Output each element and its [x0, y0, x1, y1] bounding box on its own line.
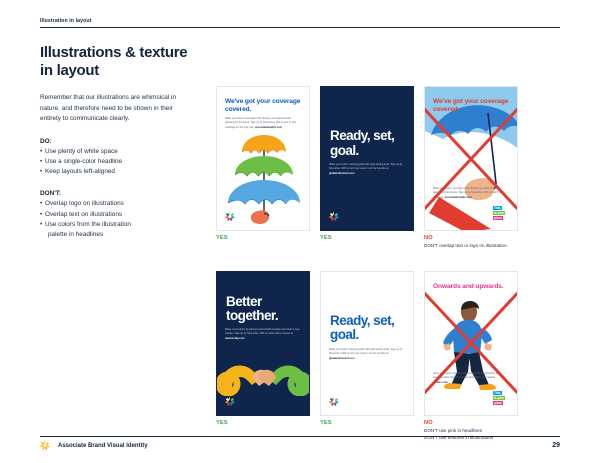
intro-paragraph: Remember that our illustrations are whim… [40, 93, 190, 124]
poster-body-link[interactable]: globalretirement.com [329, 172, 354, 175]
poster-body-text: Move your career forward with new growth… [433, 372, 500, 379]
poster-headline: Ready, set, goal. [330, 314, 413, 343]
spark-logo [225, 397, 234, 406]
spark-logo [329, 212, 338, 221]
two-arms-fist-bump-illustration [217, 344, 310, 396]
poster-headline-text: Ready, set, goal. [330, 314, 413, 343]
example-cell-ready-set-goal-navy[interactable]: Ready, set, goal. Make your team's savin… [320, 86, 414, 250]
verdict-label: YES [216, 420, 310, 426]
page-footer: Associate Brand Visual Identity 29 [40, 441, 560, 450]
do-item: Use a single-color headline [40, 157, 190, 167]
logo-line-3: place [493, 216, 503, 220]
example-row-top: We've got your coverage covered. Make yo… [216, 86, 564, 250]
logo-line-1: This [493, 391, 502, 395]
poster-body-text: Make your team's savings goals with goal… [329, 163, 402, 170]
poster-headline: We've got your coverage covered. [225, 98, 301, 114]
poster-ready-set-goal-white[interactable]: Ready, set, goal. Make your team's savin… [320, 271, 414, 416]
verdict-caption: DON'T overlap text or logo on illustrati… [424, 243, 518, 250]
spark-logo [40, 441, 49, 450]
poster-headline: Onwards and upwards. [433, 283, 509, 291]
do-item: Use plenty of white space [40, 147, 190, 157]
poster-headline: Better together. [226, 295, 309, 324]
dont-item: Overlap text on illustrations [40, 210, 190, 220]
poster-body: Make your plan's coverage fit the lifest… [433, 187, 508, 200]
dont-item: palette in headlines [40, 230, 190, 240]
verdict-label: YES [216, 235, 310, 241]
do-list: Use plenty of white space Use a single-c… [40, 147, 190, 178]
poster-body-text: Make your team's savings goals with goal… [329, 348, 402, 355]
poster-body: Make your plan's coverage fit the lifest… [225, 117, 300, 130]
verdict-label: NO [424, 235, 518, 241]
header-eyebrow: Illustration in layout [40, 18, 560, 24]
example-row-bottom: Better together. Make connections by joi… [216, 271, 564, 442]
logo-line-2: is your [493, 211, 505, 215]
verdict-label: NO [424, 420, 518, 426]
poster-headline: Ready, set, goal. [330, 129, 413, 158]
page-canvas: Illustration in layout Illustrations & t… [0, 0, 600, 463]
do-label: DO: [40, 138, 190, 145]
poster-body-link[interactable]: careers.com [433, 381, 448, 384]
spark-logo [225, 212, 234, 221]
logo-line-1: This [493, 206, 502, 210]
left-text-column: Illustrations & texture in layout Rememb… [40, 44, 190, 240]
poster-body-text: Make connections by joining a mentorship… [225, 328, 299, 335]
example-cell-umbrellas-yes[interactable]: We've got your coverage covered. Make yo… [216, 86, 310, 250]
poster-body: Make your team's savings goals with goal… [329, 163, 404, 176]
dont-item: Overlap logo on illustrations [40, 199, 190, 209]
example-cell-better-together-yes[interactable]: Better together. Make connections by joi… [216, 271, 310, 442]
poster-body-link[interactable]: mentorship.com [225, 337, 244, 340]
page-header: Illustration in layout [40, 18, 560, 28]
logo-line-2: is your [493, 396, 505, 400]
poster-umbrella-overlap-no[interactable]: We've got your coverage covered. Make yo… [424, 86, 518, 231]
do-item: Keep layouts left-aligned [40, 167, 190, 177]
dont-list: Overlap logo on illustrations Overlap te… [40, 199, 190, 240]
page-title: Illustrations & texture in layout [40, 44, 190, 79]
page-number: 29 [552, 442, 560, 449]
poster-headline-text: Better together. [226, 295, 309, 324]
poster-headline-text: Ready, set, goal. [330, 129, 413, 158]
verdict-label: YES [320, 420, 414, 426]
poster-headline: We've got your coverage covered. [433, 98, 509, 114]
example-cell-onwards-upwards-no[interactable]: Onwards and upwards. [424, 271, 518, 442]
poster-body: Move your career forward with new growth… [433, 372, 508, 385]
poster-better-together[interactable]: Better together. Make connections by joi… [216, 271, 310, 416]
poster-ready-set-goal-navy[interactable]: Ready, set, goal. Make your team's savin… [320, 86, 414, 231]
poster-body: Make connections by joining a mentorship… [225, 328, 300, 341]
this-is-your-place-logo: This is your place [492, 205, 513, 220]
dont-label: DON'T: [40, 190, 190, 197]
example-grid: We've got your coverage covered. Make yo… [216, 86, 564, 442]
example-cell-umbrella-overlap-no[interactable]: We've got your coverage covered. Make yo… [424, 86, 518, 250]
poster-body-link[interactable]: globalretirement.com [329, 357, 354, 360]
poster-body: Make your team's savings goals with goal… [329, 348, 404, 361]
poster-body-link[interactable]: associatebenefits.com [445, 196, 472, 199]
poster-umbrellas-yes[interactable]: We've got your coverage covered. Make yo… [216, 86, 310, 231]
verdict-caption-line1: DON'T use pink in headlines [424, 428, 518, 435]
this-is-your-place-logo: This is your place [492, 390, 513, 405]
spark-logo [329, 397, 338, 406]
header-divider [40, 27, 560, 28]
logo-line-3: place [493, 401, 503, 405]
example-cell-ready-set-goal-white[interactable]: Ready, set, goal. Make your team's savin… [320, 271, 414, 442]
footer-divider [40, 436, 560, 437]
footer-text: Associate Brand Visual Identity [58, 443, 148, 449]
dont-item: Use colors from the illustration [40, 220, 190, 230]
verdict-label: YES [320, 235, 414, 241]
poster-body-link[interactable]: associatebenefits.com [255, 126, 282, 129]
page-title-line2: in layout [40, 62, 190, 80]
page-title-line1: Illustrations & texture [40, 44, 190, 62]
poster-onwards-upwards-no[interactable]: Onwards and upwards. [424, 271, 518, 416]
